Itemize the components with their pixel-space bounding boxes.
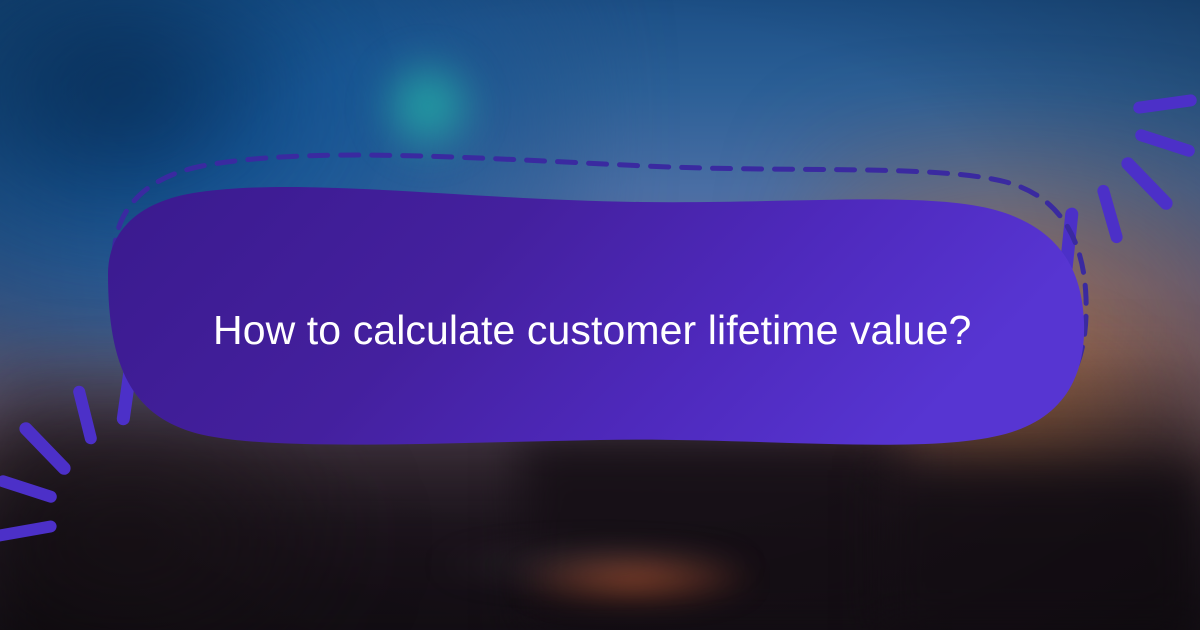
question-blob-container: How to calculate customer lifetime value… (0, 0, 1200, 630)
question-card-image: How to calculate customer lifetime value… (0, 0, 1200, 630)
question-text: How to calculate customer lifetime value… (213, 305, 1043, 355)
